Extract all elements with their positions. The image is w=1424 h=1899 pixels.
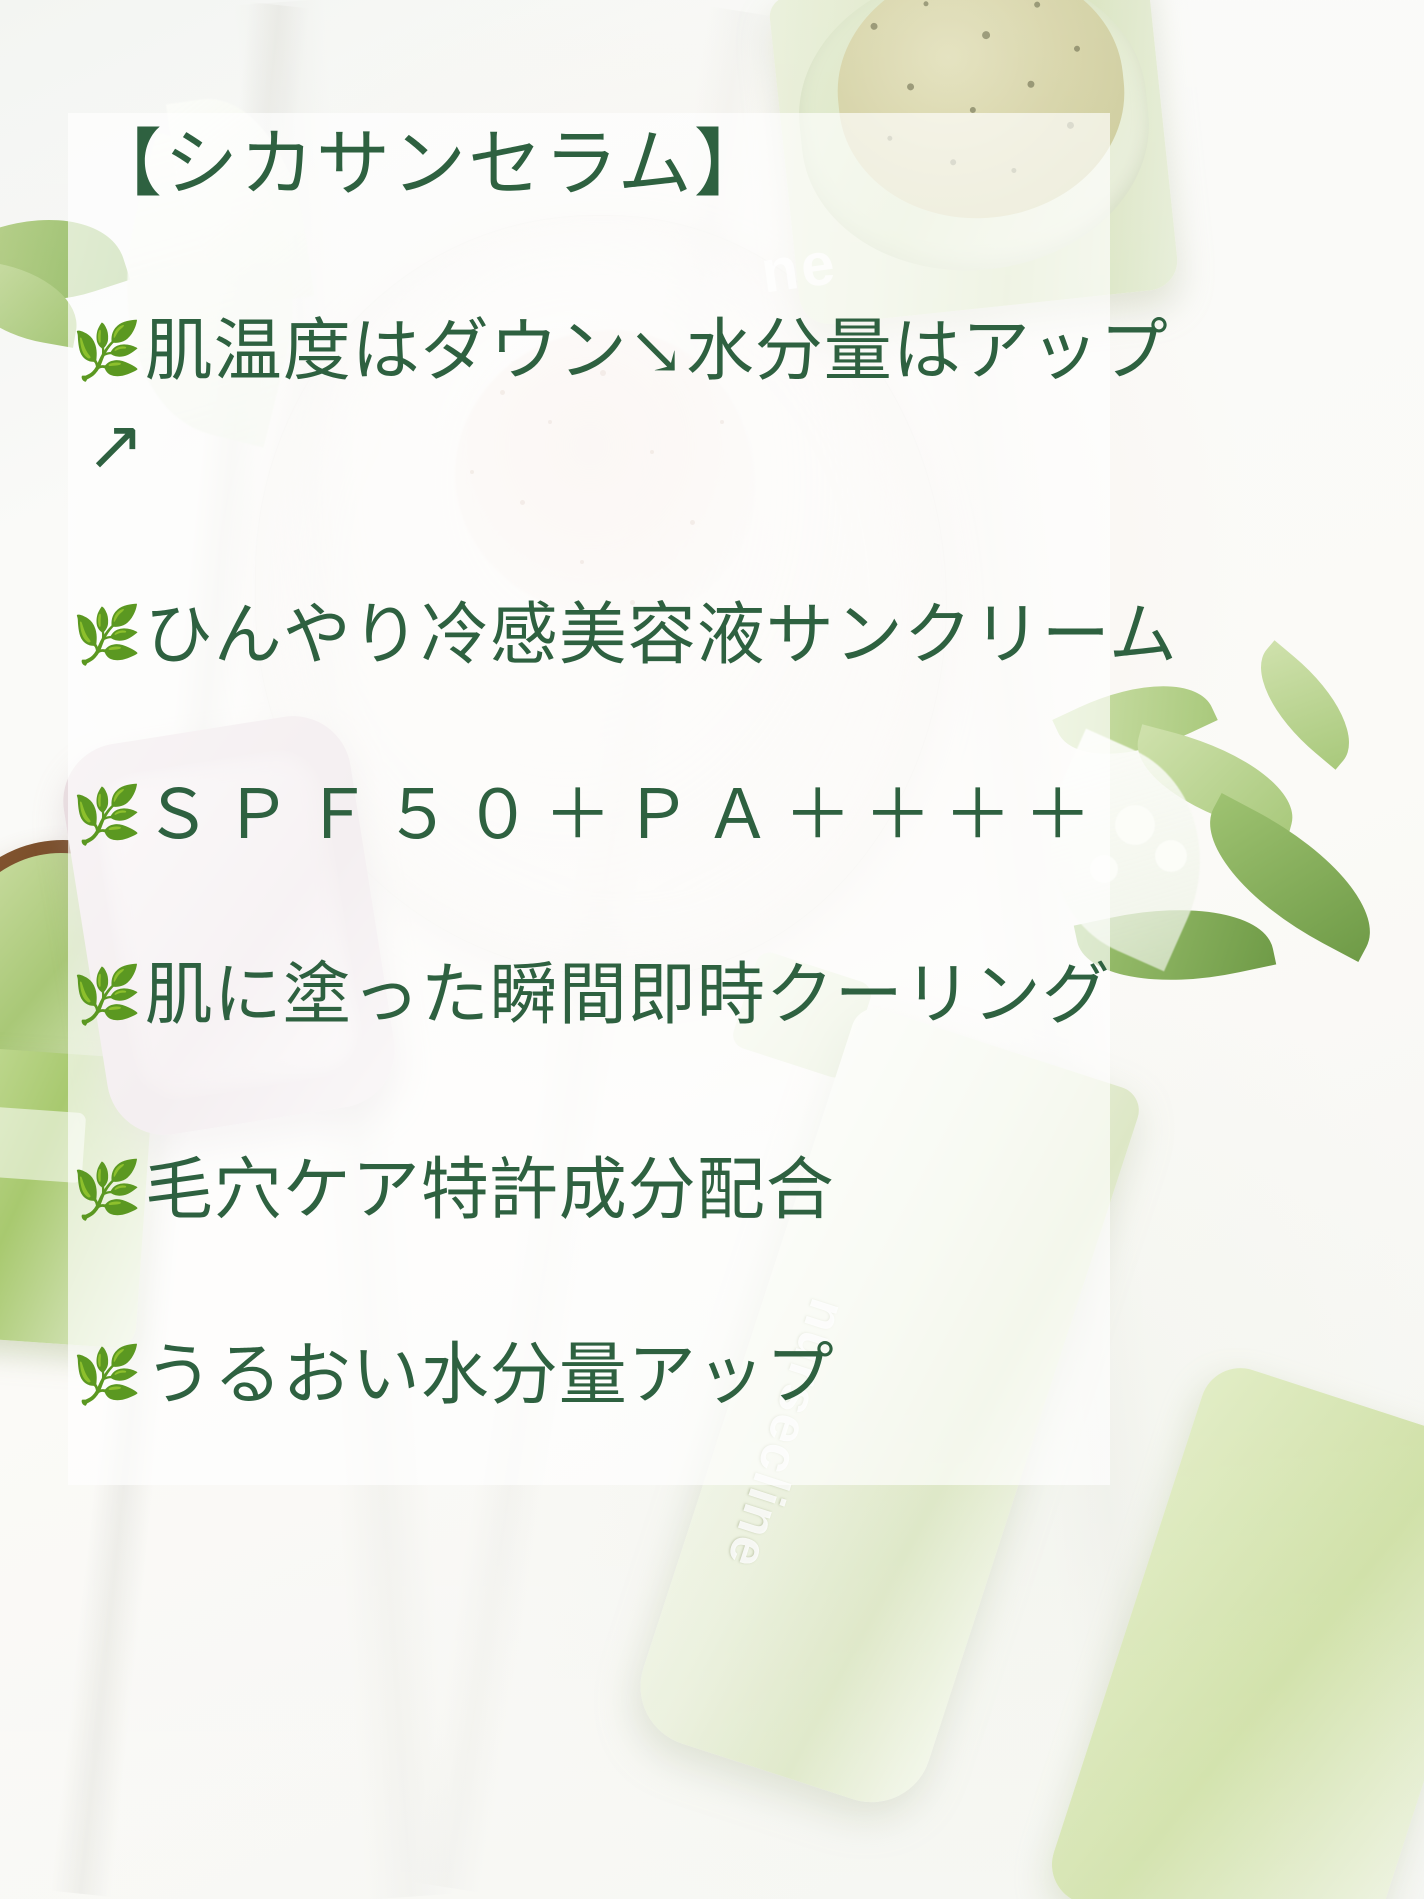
promo-canvas: ne nursecline (0, 0, 1424, 1899)
leaf-bullet-icon: 🌿 (72, 968, 143, 1024)
feature-line-instant-cooling: 🌿 肌に塗った瞬間即時クーリング (72, 960, 1111, 1031)
feature-text: ひんやり冷感美容液サンクリーム (145, 600, 1178, 671)
feature-text: 毛穴ケア特許成分配合 (145, 1155, 835, 1226)
feature-line-spf: 🌿 ＳＰＦ５０＋ＰＡ＋＋＋＋ (72, 780, 1104, 851)
feature-text: ＳＰＦ５０＋ＰＡ＋＋＋＋ (144, 780, 1104, 851)
feature-text: 肌温度はダウン↘水分量はアップ (145, 316, 1169, 387)
leaf-bullet-icon: 🌿 (72, 608, 143, 664)
leaf-bullet-icon: 🌿 (72, 788, 142, 844)
leaf-bullet-icon: 🌿 (72, 1348, 143, 1404)
feature-line-skin-temp: 🌿 肌温度はダウン↘水分量はアップ (72, 316, 1169, 387)
arrow-up-right-icon: ↗ (86, 410, 145, 480)
feature-line-cooling-serum-sunscreen: 🌿 ひんやり冷感美容液サンクリーム (72, 600, 1178, 671)
feature-text: うるおい水分量アップ (145, 1340, 835, 1411)
feature-line-moisture-up: 🌿 うるおい水分量アップ (72, 1340, 835, 1411)
text-layer: 【シカサンセラム】 🌿 肌温度はダウン↘水分量はアップ ↗ 🌿 ひんやり冷感美容… (0, 0, 1424, 1899)
leaf-bullet-icon: 🌿 (72, 324, 143, 380)
leaf-bullet-icon: 🌿 (72, 1163, 143, 1219)
feature-line-pore-care-patent: 🌿 毛穴ケア特許成分配合 (72, 1155, 835, 1226)
feature-text: 肌に塗った瞬間即時クーリング (145, 960, 1111, 1031)
page-title: 【シカサンセラム】 (88, 128, 770, 202)
